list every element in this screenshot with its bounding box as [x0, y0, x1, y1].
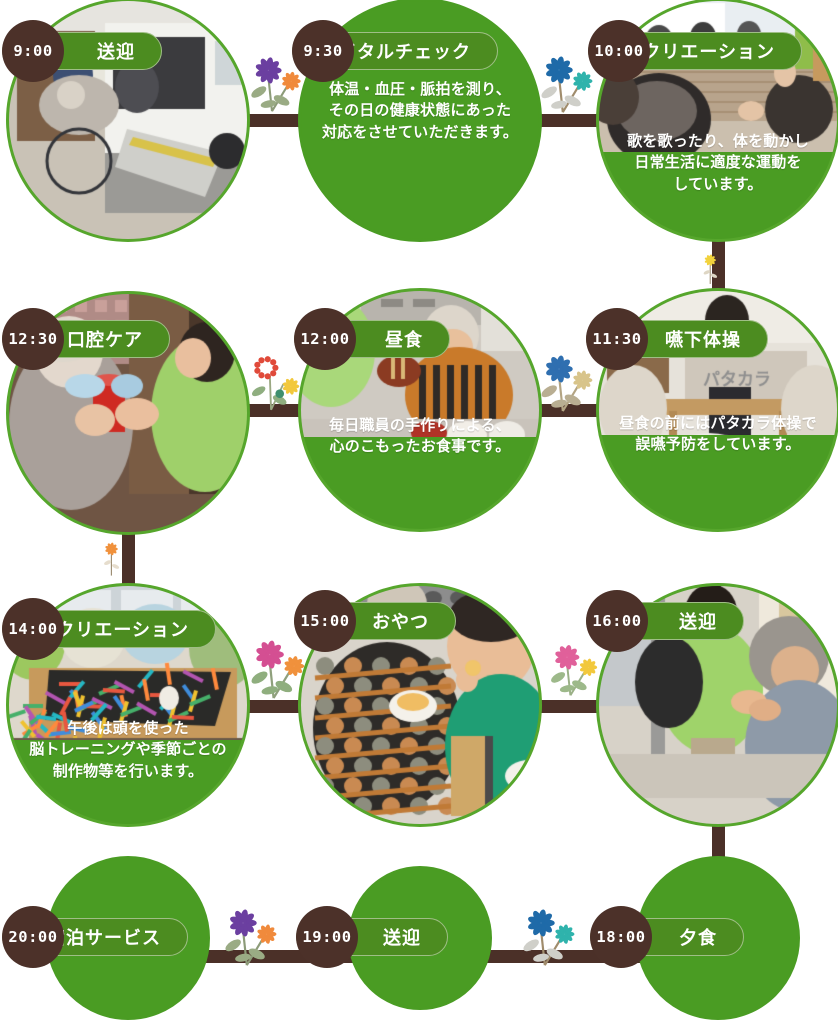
blue-teal-flower-2-icon	[520, 898, 582, 974]
schedule-tag[interactable]: 嚥下体操11:30	[586, 320, 768, 358]
schedule-time-badge: 9:00	[2, 20, 64, 82]
blue-tan-flower-icon	[538, 348, 600, 416]
schedule-time-badge: 16:00	[586, 590, 648, 652]
schedule-tag[interactable]: 昼食12:00	[294, 320, 450, 358]
schedule-time-badge: 18:00	[590, 906, 652, 968]
schedule-tag[interactable]: 送迎9:00	[2, 32, 162, 70]
schedule-tag[interactable]: おやつ15:00	[294, 602, 456, 640]
schedule-caption: 毎日職員の手作りによる、 心のこもったお食事です。	[301, 415, 539, 458]
schedule-tag[interactable]: 口腔ケア12:30	[2, 320, 170, 358]
schedule-tag[interactable]: 送迎16:00	[586, 602, 744, 640]
schedule-time-badge: 9:30	[292, 20, 354, 82]
schedule-caption: 午後は頭を使った 脳トレーニングや季節ごとの 制作物等を行います。	[9, 718, 247, 782]
schedule-time-badge: 10:00	[588, 20, 650, 82]
schedule-caption: 昼食の前にはパタカラ体操で 誤嚥予防をしています。	[599, 413, 837, 456]
schedule-tag[interactable]: バイタルチェック9:30	[292, 32, 498, 70]
schedule-caption: 体温・血圧・脈拍を測り、 その日の健康状態にあった 対応をさせていただきます。	[301, 79, 539, 143]
schedule-time-badge: 14:00	[2, 598, 64, 660]
schedule-infographic: 送迎9:00体温・血圧・脈拍を測り、 その日の健康状態にあった 対応をさせていた…	[0, 0, 838, 1004]
schedule-tag[interactable]: レクリエーション14:00	[2, 610, 216, 648]
schedule-tag[interactable]: 送迎19:00	[296, 918, 448, 956]
schedule-time-badge: 20:00	[2, 906, 64, 968]
schedule-tag[interactable]: 宿泊サービス20:00	[2, 918, 188, 956]
schedule-time-badge: 11:30	[586, 308, 648, 370]
schedule-time-badge: 19:00	[296, 906, 358, 968]
schedule-tag[interactable]: 夕食18:00	[590, 918, 744, 956]
schedule-time-badge: 12:30	[2, 308, 64, 370]
orange-stem-flower-icon	[100, 530, 138, 590]
schedule-caption: 歌を歌ったり、体を動かし 日常生活に適度な運動を しています。	[599, 131, 837, 195]
schedule-tag[interactable]: レクリエーション10:00	[588, 32, 802, 70]
purple-orange-flower-2-icon	[222, 898, 284, 974]
schedule-time-badge: 15:00	[294, 590, 356, 652]
schedule-time-badge: 12:00	[294, 308, 356, 370]
